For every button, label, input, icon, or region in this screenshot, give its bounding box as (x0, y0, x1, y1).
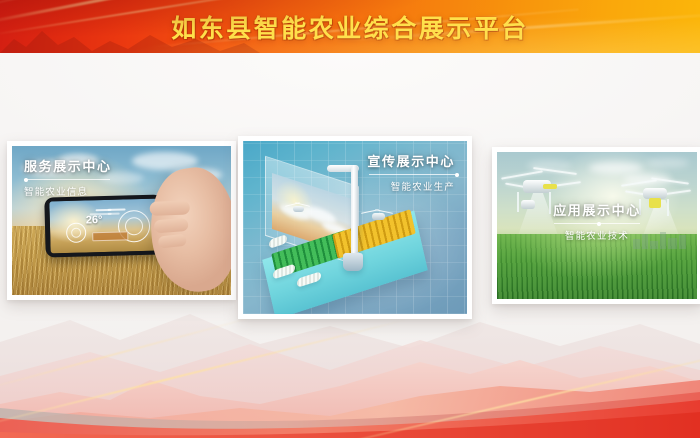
card-promotion-display-center[interactable]: 宣传展示中心 智能农业生产 (238, 136, 472, 319)
iso-lamp-pole (351, 165, 358, 257)
header-banner: 如东县智能农业综合展示平台 (0, 0, 700, 53)
background-mountains (0, 300, 700, 438)
drone-icon (361, 207, 395, 225)
caption-promotion: 宣传展示中心 智能农业生产 (367, 151, 455, 193)
iso-bucket (343, 253, 363, 271)
card-image-application: 应用展示中心 智能农业技术 (497, 152, 697, 299)
card-subtitle-application: 智能农业技术 (497, 228, 697, 242)
hud-info-chip (92, 231, 128, 241)
card-subtitle-promotion: 智能农业生产 (367, 179, 455, 193)
page-title: 如东县智能农业综合展示平台 (0, 0, 700, 53)
hud-gauge-ring-icon (66, 222, 87, 243)
caption-service: 服务展示中心 智能农业信息 (24, 156, 112, 198)
card-title-promotion: 宣传展示中心 (367, 151, 455, 170)
card-image-promotion: 宣传展示中心 智能农业生产 (243, 141, 467, 314)
card-title-service: 服务展示中心 (24, 156, 112, 175)
card-title-application: 应用展示中心 (497, 200, 697, 219)
platform-showcase-page: 如东县智能农业综合展示平台 26° (0, 0, 700, 438)
phone-screen: 26° (49, 199, 158, 254)
card-image-service: 26° 服务展示中心 智能农业信息 (12, 146, 231, 295)
hud-temperature-value: 26° (86, 214, 103, 226)
caption-rule (554, 223, 640, 224)
drone-icon (285, 201, 311, 215)
caption-application: 应用展示中心 智能农业技术 (497, 200, 697, 242)
smartphone-device: 26° (44, 194, 164, 257)
caption-rule (24, 179, 110, 180)
card-service-display-center[interactable]: 26° 服务展示中心 智能农业信息 (7, 141, 236, 300)
card-application-display-center[interactable]: 应用展示中心 智能农业技术 (492, 147, 700, 304)
caption-rule (369, 174, 455, 175)
card-subtitle-service: 智能农业信息 (24, 184, 112, 198)
